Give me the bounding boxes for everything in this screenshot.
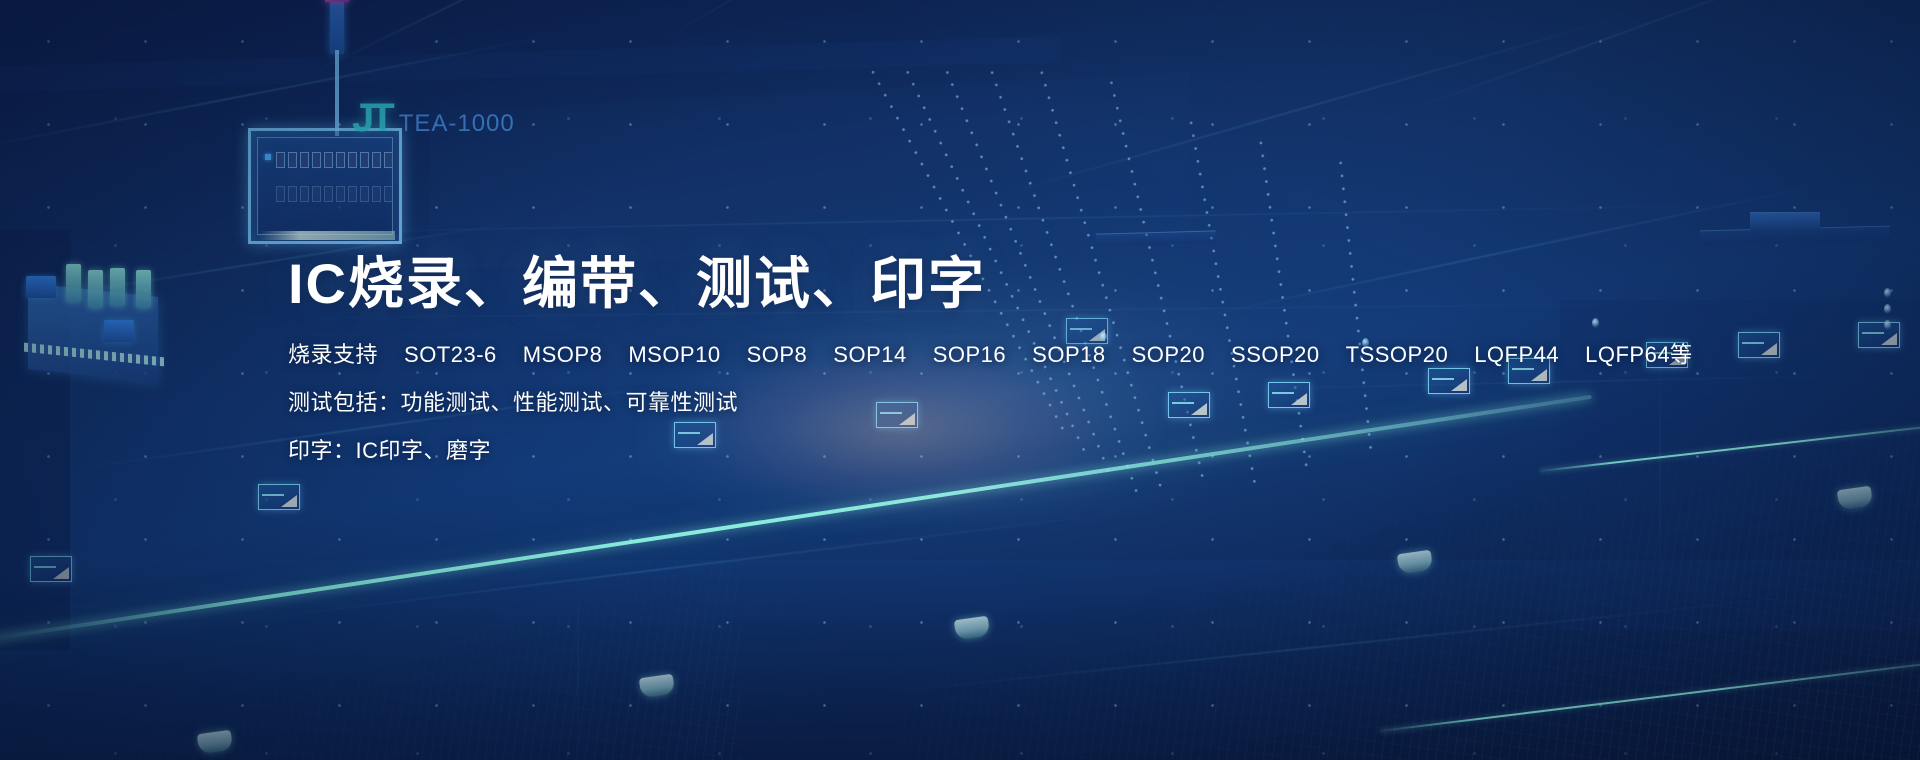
subtitle-testing: 测试包括：功能测试、性能测试、可靠性测试 <box>288 392 1588 414</box>
package-lqfp44: LQFP44 <box>1474 342 1559 367</box>
package-sop16: SOP16 <box>933 342 1006 367</box>
package-msop10: MSOP10 <box>628 342 720 367</box>
package-ssop20: SSOP20 <box>1231 342 1320 367</box>
page-title: IC烧录、编带、测试、印字 <box>288 252 1588 316</box>
package-lqfp64: LQFP64等 <box>1585 342 1692 367</box>
burning-prefix-label: 烧录支持 <box>288 342 378 367</box>
banner-text-block: IC烧录、编带、测试、印字 烧录支持SOT23-6MSOP8MSOP10SOP8… <box>288 252 1588 462</box>
product-banner: JT TEA-1000 IC烧录、编带、测试、印字 烧录支持SOT23-6MSO… <box>0 0 1920 760</box>
package-msop8: MSOP8 <box>523 342 603 367</box>
package-tssop20: TSSOP20 <box>1346 342 1449 367</box>
subtitle-marking: 印字：IC印字、磨字 <box>288 440 1588 462</box>
package-sop20: SOP20 <box>1132 342 1205 367</box>
package-sop14: SOP14 <box>833 342 906 367</box>
package-sot23-6: SOT23-6 <box>404 342 497 367</box>
subtitle-burning: 烧录支持SOT23-6MSOP8MSOP10SOP8SOP14SOP16SOP1… <box>288 344 1588 366</box>
package-sop18: SOP18 <box>1032 342 1105 367</box>
package-sop8: SOP8 <box>747 342 808 367</box>
